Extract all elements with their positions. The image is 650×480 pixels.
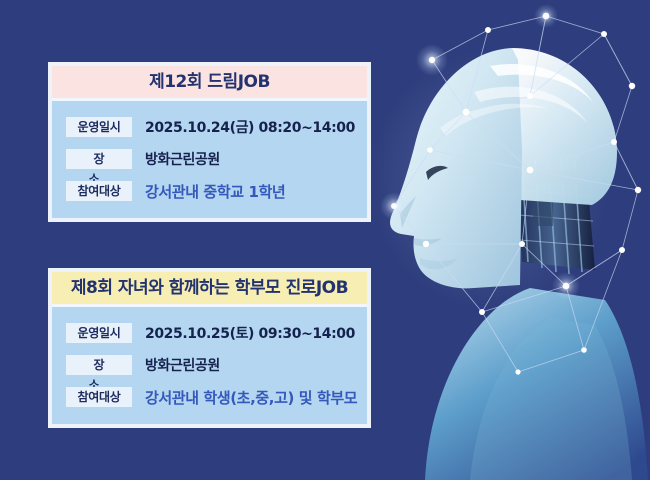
info-value-datetime: 2025.10.25(토) 09:30~14:00 [145, 323, 355, 343]
event-card-dream-job: 제12회 드림JOB 운영일시 2025.10.24(금) 08:20~14:0… [52, 66, 367, 218]
info-value-location: 방화근린공원 [145, 355, 220, 375]
card-body: 운영일시 2025.10.25(토) 09:30~14:00 장 소 방화근린공… [52, 307, 367, 424]
info-row-audience: 참여대상 강서관내 중학교 1학년 [52, 178, 367, 204]
info-row-datetime: 운영일시 2025.10.25(토) 09:30~14:00 [52, 320, 367, 346]
info-label-audience: 참여대상 [66, 181, 132, 201]
info-label-location: 장 소 [66, 149, 132, 169]
info-row-location: 장 소 방화근린공원 [52, 352, 367, 378]
card-accent-bar-bottom [48, 218, 371, 222]
poster-canvas: 제12회 드림JOB 운영일시 2025.10.24(금) 08:20~14:0… [0, 0, 650, 480]
card-accent-bar-top [48, 62, 371, 66]
event-card-parent-career-job: 제8회 자녀와 함께하는 학부모 진로JOB 운영일시 2025.10.25(토… [52, 272, 367, 424]
info-row-datetime: 운영일시 2025.10.24(금) 08:20~14:00 [52, 114, 367, 140]
ai-robot-head-illustration [370, 0, 650, 480]
info-row-audience: 참여대상 강서관내 학생(초,중,고) 및 학부모 [52, 384, 367, 410]
info-value-audience: 강서관내 중학교 1학년 [145, 181, 285, 202]
card-accent-bar-top [48, 268, 371, 272]
card-title: 제8회 자녀와 함께하는 학부모 진로JOB [52, 272, 367, 304]
card-accent-bar-right [367, 269, 371, 427]
card-title: 제12회 드림JOB [52, 66, 367, 98]
info-label-location: 장 소 [66, 355, 132, 375]
info-label-audience: 참여대상 [66, 387, 132, 407]
card-accent-bar-bottom [48, 424, 371, 428]
info-value-datetime: 2025.10.24(금) 08:20~14:00 [145, 117, 355, 137]
card-body: 운영일시 2025.10.24(금) 08:20~14:00 장 소 방화근린공… [52, 101, 367, 218]
info-label-datetime: 운영일시 [66, 117, 132, 137]
info-row-location: 장 소 방화근린공원 [52, 146, 367, 172]
card-accent-bar-left [48, 269, 52, 427]
info-value-audience: 강서관내 학생(초,중,고) 및 학부모 [145, 387, 357, 408]
card-accent-bar-right [367, 63, 371, 221]
card-accent-bar-left [48, 63, 52, 221]
info-value-location: 방화근린공원 [145, 149, 220, 169]
info-label-datetime: 운영일시 [66, 323, 132, 343]
